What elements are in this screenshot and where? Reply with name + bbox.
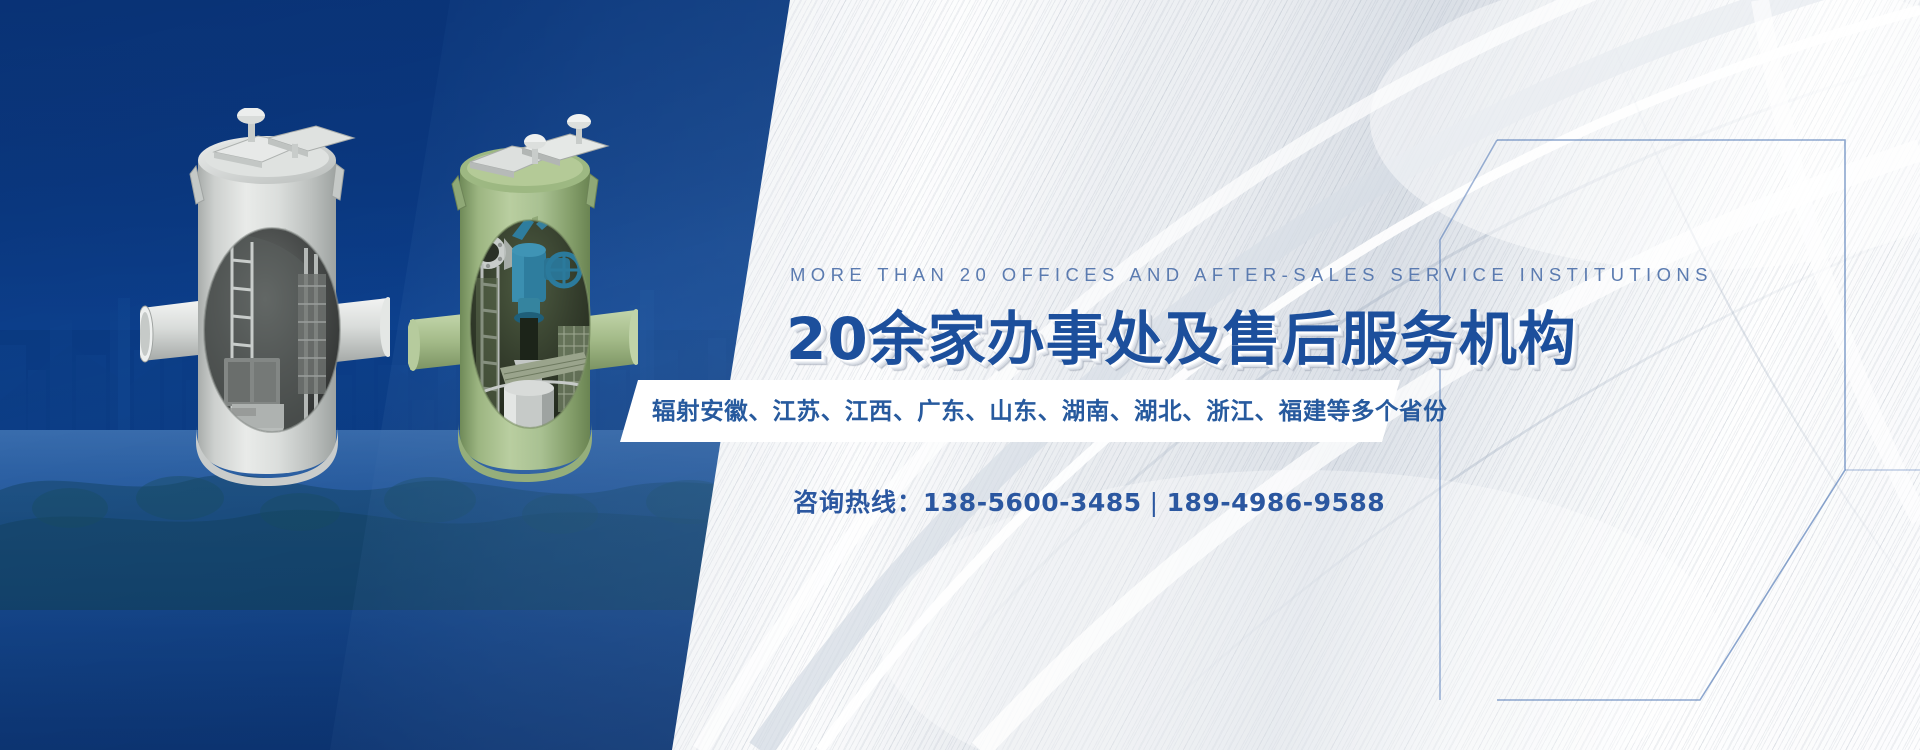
province-ribbon-text: 辐射安徽、江苏、江西、广东、山东、湖南、湖北、浙江、福建等多个省份 <box>652 380 1447 442</box>
hotline-separator: | <box>1142 488 1167 517</box>
hotline-phone-secondary[interactable]: 189-4986-9588 <box>1167 488 1386 517</box>
banner-content: MORE THAN 20 OFFICES AND AFTER-SALES SER… <box>0 0 1920 750</box>
hotline-row: 咨询热线：138-5600-3485|189-4986-9588 <box>793 483 1385 519</box>
banner-headline: 20余家办事处及售后服务机构 <box>786 292 1577 376</box>
hotline-phone-primary[interactable]: 138-5600-3485 <box>923 488 1142 517</box>
banner-kicker: MORE THAN 20 OFFICES AND AFTER-SALES SER… <box>790 264 1713 286</box>
hotline-label: 咨询热线： <box>793 488 923 517</box>
promo-banner: MORE THAN 20 OFFICES AND AFTER-SALES SER… <box>0 0 1920 750</box>
